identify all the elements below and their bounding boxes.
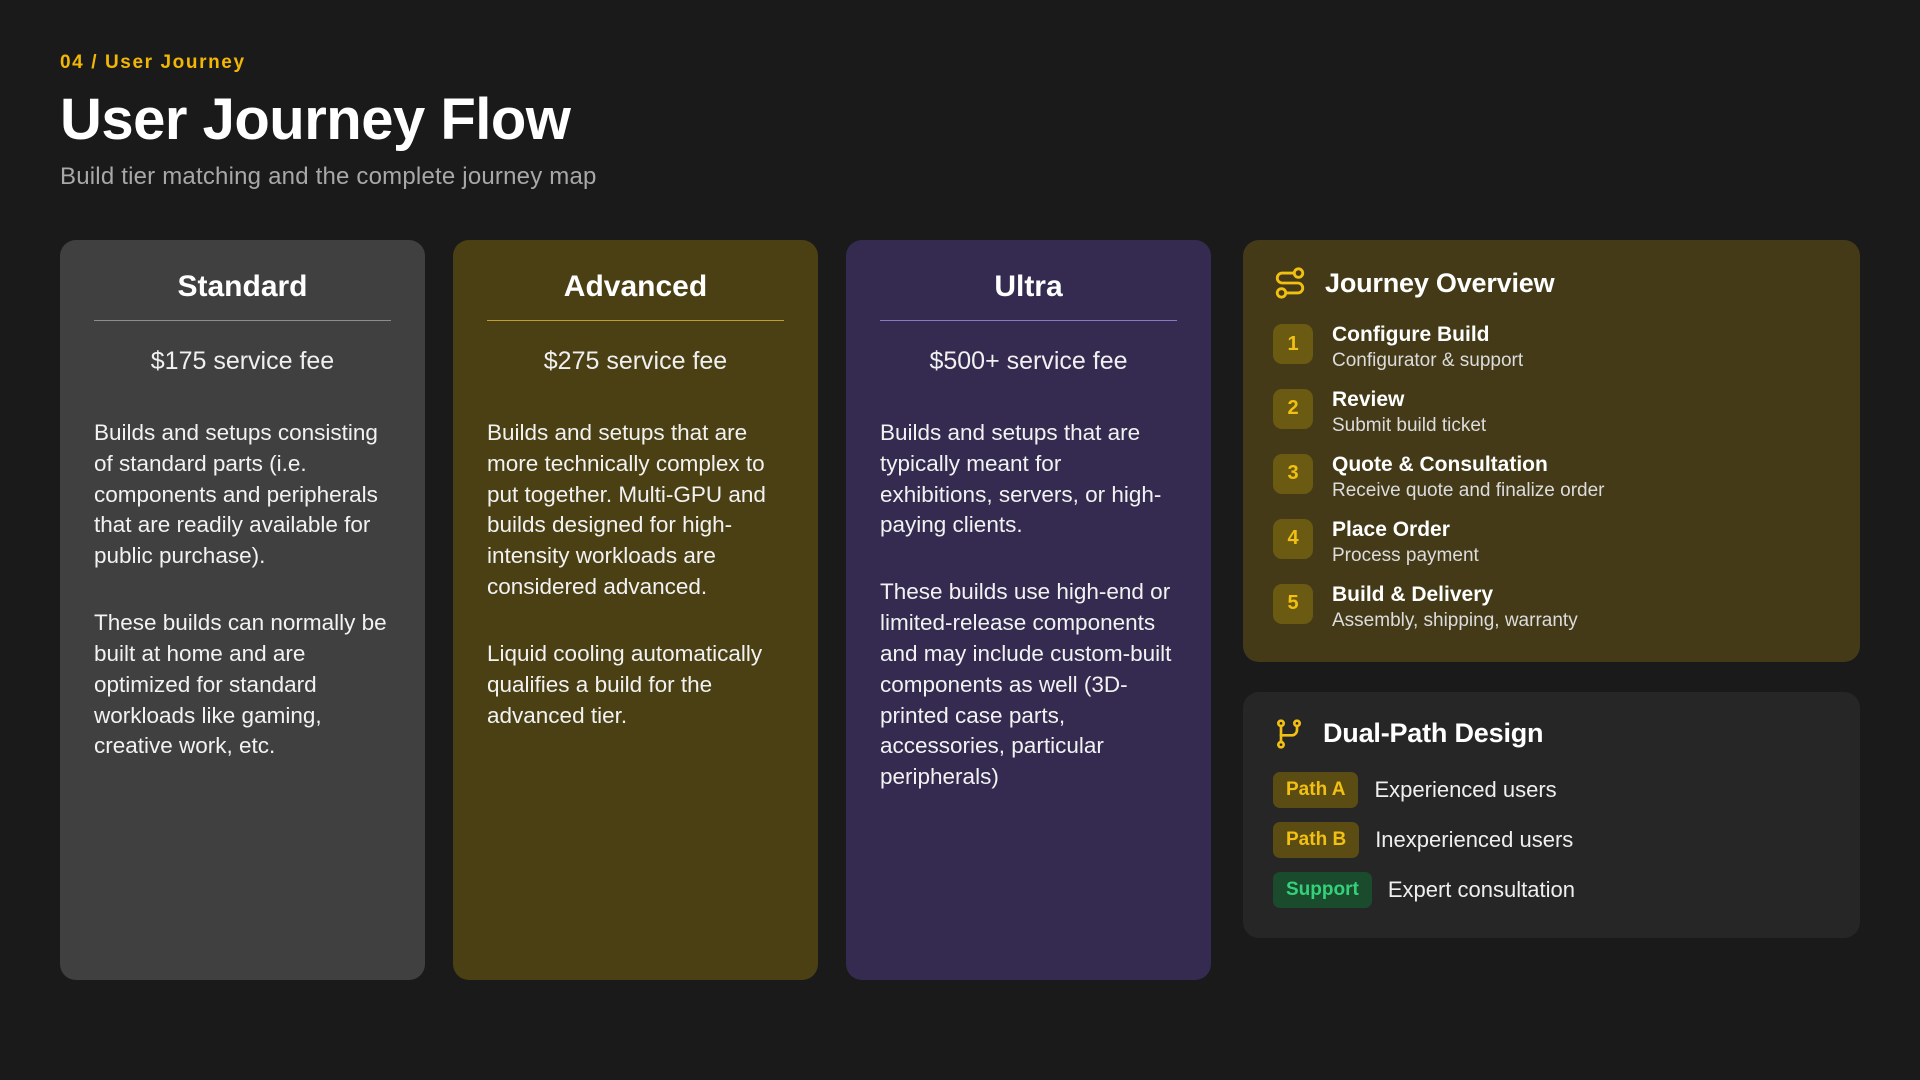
- journey-step-subtitle: Assembly, shipping, warranty: [1332, 609, 1578, 634]
- slide-header: 04 / User Journey User Journey Flow Buil…: [60, 52, 597, 191]
- journey-step[interactable]: 1 Configure Build Configurator & support: [1273, 322, 1830, 374]
- journey-overview-header: Journey Overview: [1273, 266, 1830, 300]
- journey-step-title: Configure Build: [1332, 322, 1523, 348]
- journey-step-title: Review: [1332, 387, 1486, 413]
- tier-divider: [487, 320, 784, 321]
- dual-path-panel: Dual-Path Design Path A Experienced user…: [1243, 692, 1860, 938]
- journey-step[interactable]: 3 Quote & Consultation Receive quote and…: [1273, 452, 1830, 504]
- tier-paragraph: These builds use high-end or limited-rel…: [880, 577, 1177, 793]
- dual-path-title: Dual-Path Design: [1323, 718, 1543, 749]
- tier-paragraph: Builds and setups that are more technica…: [487, 418, 784, 603]
- path-row[interactable]: Support Expert consultation: [1273, 872, 1830, 908]
- journey-overview-title: Journey Overview: [1325, 268, 1554, 299]
- path-label: Experienced users: [1374, 777, 1556, 803]
- tier-paragraph: These builds can normally be built at ho…: [94, 608, 391, 762]
- tier-fee: $275 service fee: [487, 347, 784, 376]
- journey-step[interactable]: 2 Review Submit build ticket: [1273, 387, 1830, 439]
- journey-step-number: 3: [1273, 454, 1313, 494]
- journey-step-text: Configure Build Configurator & support: [1332, 322, 1523, 374]
- route-icon: [1273, 266, 1307, 300]
- tier-name: Standard: [94, 270, 391, 320]
- journey-step-number: 5: [1273, 584, 1313, 624]
- tier-divider: [94, 320, 391, 321]
- tier-divider: [880, 320, 1177, 321]
- journey-step-title: Place Order: [1332, 517, 1479, 543]
- journey-step-text: Build & Delivery Assembly, shipping, war…: [1332, 582, 1578, 634]
- journey-step-subtitle: Submit build ticket: [1332, 414, 1486, 439]
- journey-step-title: Build & Delivery: [1332, 582, 1578, 608]
- tier-paragraph: Liquid cooling automatically qualifies a…: [487, 639, 784, 731]
- git-branch-icon: [1273, 718, 1305, 750]
- tier-paragraph: Builds and setups that are typically mea…: [880, 418, 1177, 541]
- path-badge-b: Path B: [1273, 822, 1359, 858]
- journey-step-number: 4: [1273, 519, 1313, 559]
- journey-step-text: Review Submit build ticket: [1332, 387, 1486, 439]
- journey-step-subtitle: Receive quote and finalize order: [1332, 479, 1605, 504]
- section-eyebrow: 04 / User Journey: [60, 52, 597, 74]
- tier-card-ultra[interactable]: Ultra $500+ service fee Builds and setup…: [846, 240, 1211, 980]
- journey-step-text: Quote & Consultation Receive quote and f…: [1332, 452, 1605, 504]
- path-label: Inexperienced users: [1375, 827, 1573, 853]
- journey-step-number: 1: [1273, 324, 1313, 364]
- journey-step-title: Quote & Consultation: [1332, 452, 1605, 478]
- journey-step[interactable]: 5 Build & Delivery Assembly, shipping, w…: [1273, 582, 1830, 634]
- journey-step-text: Place Order Process payment: [1332, 517, 1479, 569]
- path-label: Expert consultation: [1388, 877, 1575, 903]
- tier-fee: $500+ service fee: [880, 347, 1177, 376]
- journey-step[interactable]: 4 Place Order Process payment: [1273, 517, 1830, 569]
- tier-card-standard[interactable]: Standard $175 service fee Builds and set…: [60, 240, 425, 980]
- path-badge-support: Support: [1273, 872, 1372, 908]
- tier-name: Ultra: [880, 270, 1177, 320]
- page-title: User Journey Flow: [60, 90, 597, 151]
- journey-step-subtitle: Configurator & support: [1332, 349, 1523, 374]
- tier-paragraph: Builds and setups consisting of standard…: [94, 418, 391, 572]
- tier-name: Advanced: [487, 270, 784, 320]
- path-row[interactable]: Path B Inexperienced users: [1273, 822, 1830, 858]
- path-row[interactable]: Path A Experienced users: [1273, 772, 1830, 808]
- side-panels: Journey Overview 1 Configure Build Confi…: [1243, 240, 1860, 938]
- journey-step-number: 2: [1273, 389, 1313, 429]
- path-badge-a: Path A: [1273, 772, 1358, 808]
- slide-root: 04 / User Journey User Journey Flow Buil…: [0, 0, 1920, 1080]
- journey-step-subtitle: Process payment: [1332, 544, 1479, 569]
- dual-path-header: Dual-Path Design: [1273, 718, 1830, 750]
- page-subtitle: Build tier matching and the complete jou…: [60, 163, 597, 191]
- tier-fee: $175 service fee: [94, 347, 391, 376]
- journey-overview-panel: Journey Overview 1 Configure Build Confi…: [1243, 240, 1860, 662]
- tier-card-row: Standard $175 service fee Builds and set…: [60, 240, 1211, 980]
- tier-card-advanced[interactable]: Advanced $275 service fee Builds and set…: [453, 240, 818, 980]
